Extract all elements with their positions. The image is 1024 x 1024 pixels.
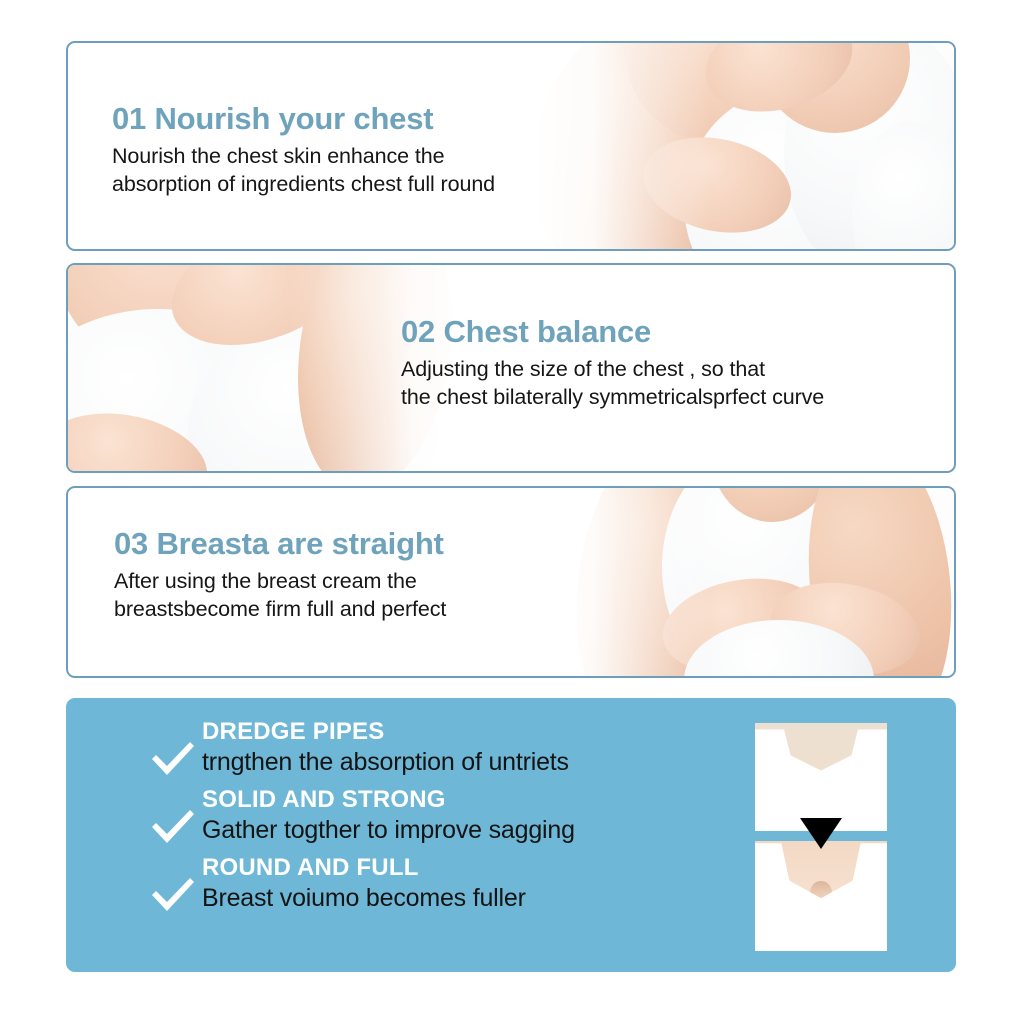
before-photo [755, 723, 887, 831]
benefit-item: ROUND AND FULL Breast voiumo becomes ful… [150, 853, 710, 915]
triangle-down-icon [800, 818, 842, 849]
panel-02-title: 02 Chest balance [401, 314, 824, 350]
benefits-list: DREDGE PIPES trngthen the absorption of … [150, 717, 710, 921]
feature-panel-03: 03 Breasta are straight After using the … [66, 486, 956, 678]
feature-panel-02: 02 Chest balance Adjusting the size of t… [66, 263, 956, 473]
panel-03-line-2: breastsbecome firm full and perfect [114, 595, 446, 624]
benefit-text-group: DREDGE PIPES trngthen the absorption of … [196, 717, 569, 777]
panel-01-line-1: Nourish the chest skin enhance the [112, 142, 495, 171]
panel-02-text: 02 Chest balance Adjusting the size of t… [401, 314, 824, 412]
panel-01-photo [534, 43, 954, 249]
panel-02-line-1: Adjusting the size of the chest , so tha… [401, 355, 824, 384]
panel-01-title: 01 Nourish your chest [112, 101, 495, 137]
infographic-page: 01 Nourish your chest Nourish the chest … [0, 0, 1024, 1024]
feature-panel-01: 01 Nourish your chest Nourish the chest … [66, 41, 956, 251]
panel-02-line-2: the chest bilaterally symmetricalsprfect… [401, 383, 824, 412]
panel-03-title: 03 Breasta are straight [114, 526, 446, 562]
check-icon [150, 741, 196, 779]
benefit-title: ROUND AND FULL [202, 853, 526, 882]
benefit-subtitle: Breast voiumo becomes fuller [202, 883, 526, 913]
benefit-title: SOLID AND STRONG [202, 785, 575, 814]
panel-03-photo [534, 488, 954, 676]
benefit-text-group: SOLID AND STRONG Gather togther to impro… [196, 785, 575, 845]
benefit-subtitle: trngthen the absorption of untriets [202, 747, 569, 777]
panel-03-text: 03 Breasta are straight After using the … [114, 526, 446, 624]
benefit-item: DREDGE PIPES trngthen the absorption of … [150, 717, 710, 779]
check-icon [150, 877, 196, 915]
benefit-item: SOLID AND STRONG Gather togther to impro… [150, 785, 710, 847]
benefit-subtitle: Gather togther to improve sagging [202, 815, 575, 845]
benefit-text-group: ROUND AND FULL Breast voiumo becomes ful… [196, 853, 526, 913]
benefit-title: DREDGE PIPES [202, 717, 569, 746]
panel-01-text: 01 Nourish your chest Nourish the chest … [112, 101, 495, 199]
panel-01-line-2: absorption of ingredients chest full rou… [112, 170, 495, 199]
check-icon [150, 809, 196, 847]
after-photo [755, 841, 887, 951]
benefits-panel: DREDGE PIPES trngthen the absorption of … [66, 698, 956, 972]
before-after-comparison [755, 723, 887, 951]
panel-03-line-1: After using the breast cream the [114, 567, 446, 596]
